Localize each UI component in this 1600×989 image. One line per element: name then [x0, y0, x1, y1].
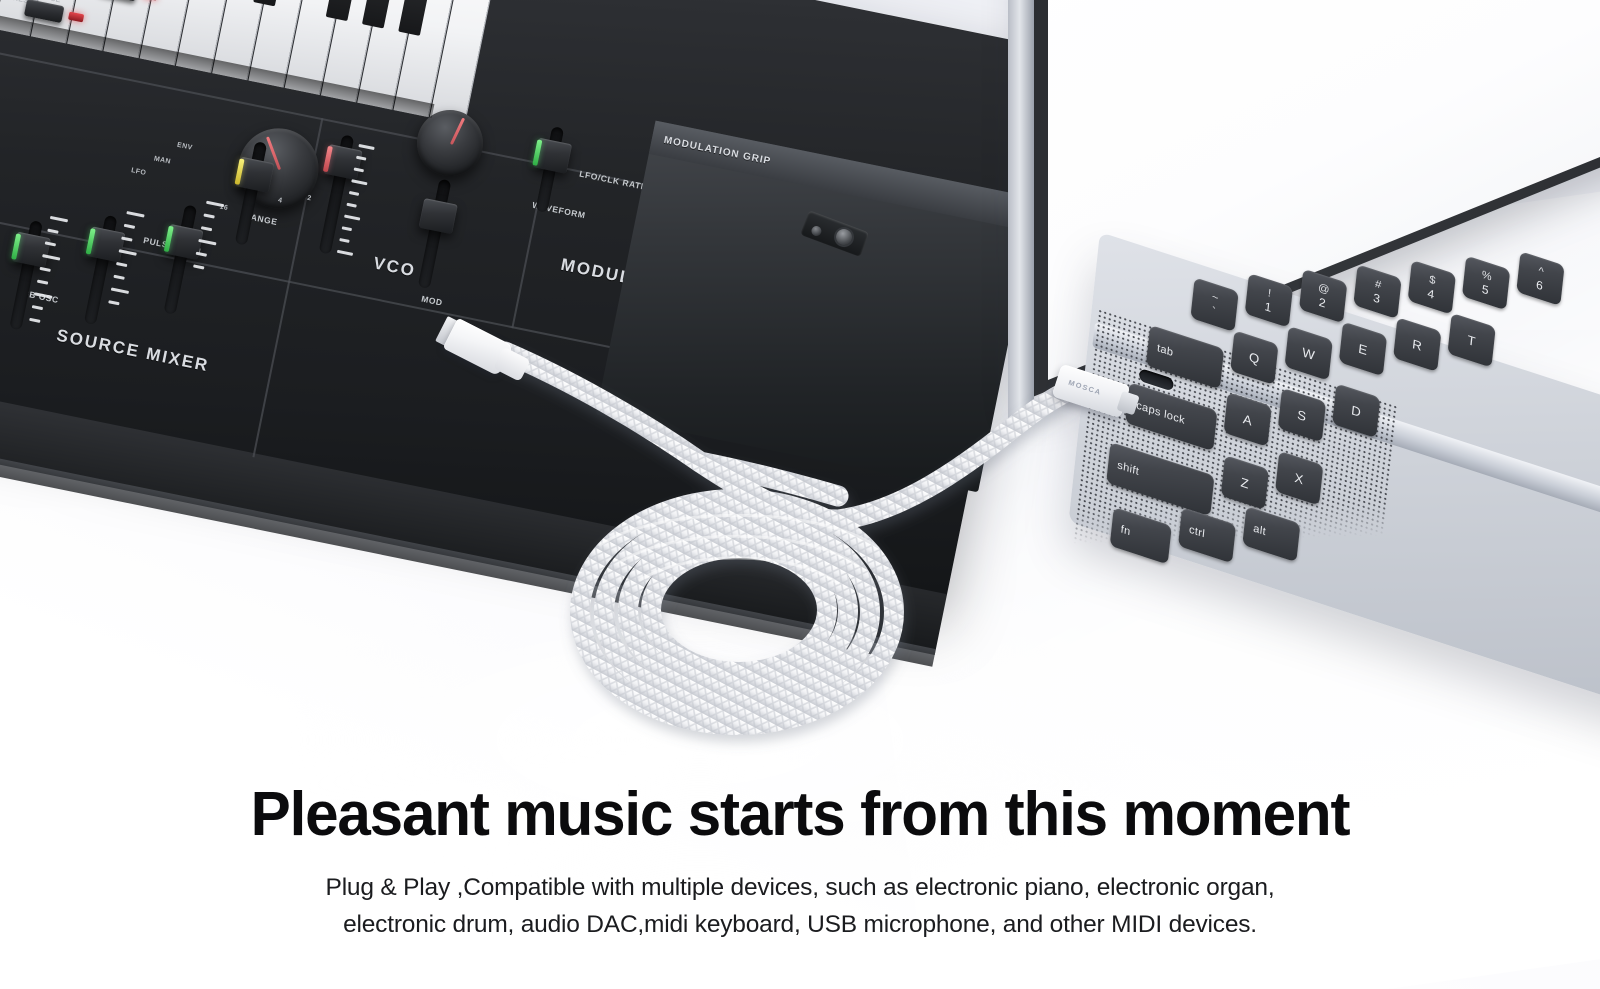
- key-ctrl[interactable]: ctrl: [1178, 507, 1236, 563]
- key-s[interactable]: S: [1278, 388, 1326, 443]
- marketing-text-block: Pleasant music starts from this moment P…: [0, 782, 1600, 943]
- laptop-lid-edge: [1008, 0, 1034, 430]
- key-r[interactable]: R: [1393, 317, 1441, 372]
- key-z[interactable]: Z: [1221, 455, 1269, 510]
- key-6[interactable]: ^ 6: [1516, 251, 1564, 306]
- key-alt[interactable]: alt: [1242, 506, 1300, 562]
- key-caps-lock[interactable]: caps lock: [1125, 382, 1217, 451]
- key-backtick[interactable]: ~ `: [1190, 277, 1238, 332]
- product-banner: ARPEGGIO LEGATO KEY TRANSPOSE RESET ON U…: [0, 0, 1600, 989]
- key-5[interactable]: % 5: [1462, 256, 1510, 311]
- key-e[interactable]: E: [1339, 322, 1387, 377]
- headline: Pleasant music starts from this moment: [24, 782, 1576, 849]
- key-t[interactable]: T: [1447, 313, 1495, 368]
- key-tab[interactable]: tab: [1146, 325, 1224, 390]
- key-a[interactable]: A: [1223, 392, 1271, 447]
- subline: Plug & Play ,Compatible with multiple de…: [0, 869, 1600, 943]
- key-1[interactable]: ! 1: [1245, 273, 1293, 328]
- slider-mod[interactable]: [419, 198, 458, 234]
- key-4[interactable]: $ 4: [1408, 260, 1456, 315]
- key-2[interactable]: @ 2: [1299, 269, 1347, 324]
- key-3[interactable]: # 3: [1353, 264, 1401, 319]
- key-shift[interactable]: shift: [1106, 442, 1214, 516]
- subline-line-2: electronic drum, audio DAC,midi keyboard…: [0, 906, 1600, 943]
- key-q[interactable]: Q: [1230, 330, 1278, 385]
- slider-lfo-rate[interactable]: [533, 138, 572, 174]
- key-d[interactable]: D: [1332, 383, 1380, 438]
- slider-env[interactable]: [235, 157, 274, 193]
- laptop-keyboard: ~ ` ! 1 @ 2 # 3 $ 4 % 5: [1116, 140, 1600, 773]
- laptop: ~ ` ! 1 @ 2 # 3 $ 4 % 5: [990, 0, 1600, 690]
- subline-line-1: Plug & Play ,Compatible with multiple de…: [0, 869, 1600, 906]
- key-w[interactable]: W: [1284, 326, 1332, 381]
- key-x[interactable]: X: [1275, 451, 1323, 506]
